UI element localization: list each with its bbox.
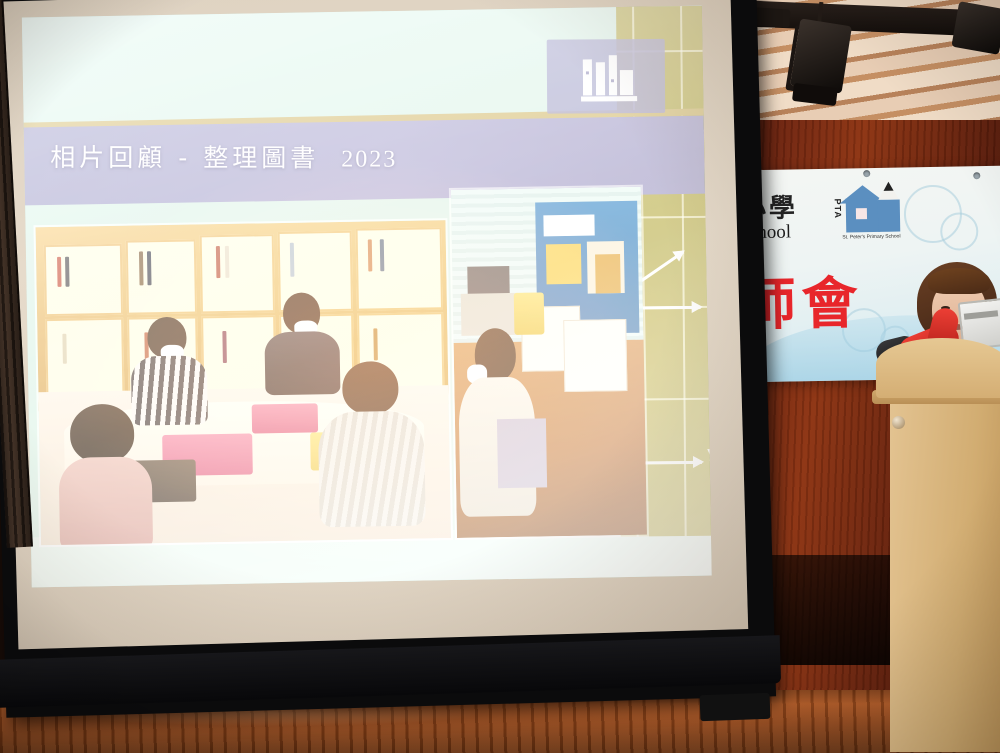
banner-grommet bbox=[863, 170, 870, 177]
podium-body bbox=[890, 402, 1000, 752]
book-spine bbox=[57, 256, 62, 286]
book-spine bbox=[290, 243, 295, 277]
projection-screen: Y 相片回顧 - 整理圖書2023 a bbox=[0, 0, 776, 718]
pencil-body-icon bbox=[878, 200, 901, 232]
book-detail bbox=[611, 79, 614, 82]
poster bbox=[546, 244, 582, 284]
books-on-shelf-logo bbox=[547, 39, 666, 114]
stage-spotlight-2 bbox=[951, 1, 1000, 55]
screen-surface: Y 相片回顧 - 整理圖書2023 a bbox=[0, 0, 748, 649]
storage-box bbox=[563, 319, 627, 392]
books-icon bbox=[583, 53, 635, 101]
speaker-fringe bbox=[928, 268, 990, 294]
book-in-hand bbox=[497, 418, 548, 488]
book-spine bbox=[65, 256, 70, 286]
pta-house-pencil-logo: PTA St. Peter's Primary School bbox=[829, 179, 918, 247]
student-figure bbox=[51, 403, 160, 547]
banner-grommet bbox=[973, 172, 980, 179]
shelf-cell bbox=[45, 318, 124, 397]
podium-knob bbox=[892, 416, 905, 429]
book-spine bbox=[224, 246, 229, 278]
pencil-lead-icon bbox=[883, 182, 893, 191]
pink-storage-box bbox=[252, 404, 318, 434]
poster bbox=[543, 215, 595, 237]
shelf-line-icon bbox=[581, 96, 637, 101]
pta-subtitle: St. Peter's Primary School bbox=[842, 234, 900, 241]
book-spine bbox=[222, 331, 227, 363]
poster bbox=[595, 254, 620, 294]
book-spine bbox=[374, 328, 379, 360]
book-spine bbox=[138, 251, 143, 285]
book-spine bbox=[368, 240, 373, 272]
screen-foot bbox=[700, 693, 771, 721]
house-window-icon bbox=[856, 208, 867, 219]
book-detail bbox=[586, 71, 589, 74]
axis-label-y: Y bbox=[706, 446, 712, 466]
wooden-podium bbox=[868, 338, 1000, 753]
shelf-cell bbox=[126, 239, 197, 314]
book-spine bbox=[62, 334, 67, 364]
school-hall-scene: 小學 School 師會 PTA St. Peter's Primary Sch… bbox=[0, 0, 1000, 753]
slide-title: 相片回顧 - 整理圖書2023 bbox=[50, 138, 570, 175]
student-head bbox=[70, 404, 135, 464]
grid-line bbox=[680, 6, 687, 536]
photo-collage bbox=[33, 185, 647, 551]
library-counter-photo bbox=[449, 185, 649, 540]
slide-title-year: 2023 bbox=[341, 147, 397, 173]
banner-bubble-2 bbox=[940, 212, 979, 251]
library-shelves-photo bbox=[33, 218, 453, 547]
book-spine bbox=[147, 251, 152, 285]
podium-top bbox=[876, 338, 1000, 398]
slide-title-cn: 相片回顧 - 整理圖書 bbox=[50, 143, 319, 172]
student-body bbox=[318, 410, 427, 528]
shelf-cell bbox=[44, 244, 123, 316]
student-body bbox=[58, 456, 153, 547]
presentation-slide: Y 相片回顧 - 整理圖書2023 a bbox=[22, 6, 712, 588]
student-head bbox=[342, 361, 398, 415]
stage-spotlight-1 bbox=[790, 18, 852, 93]
student-figure bbox=[317, 360, 426, 527]
